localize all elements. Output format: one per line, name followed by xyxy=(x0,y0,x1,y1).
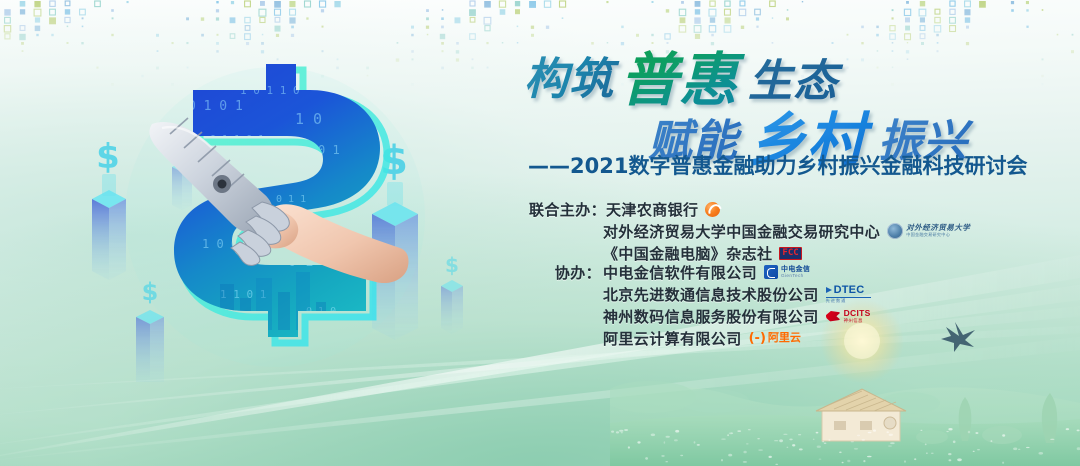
dtec-logo: DTEC 先进数通 xyxy=(826,285,871,304)
svg-text:0 1: 0 1 xyxy=(288,254,313,270)
tjrcb-logo xyxy=(705,202,720,217)
co-organizer-row-4: 阿里云计算有限公司 (-) 阿里云 xyxy=(529,327,999,349)
organizer-name-1: 天津农商银行 xyxy=(606,199,698,220)
headline-line1-part1: 构筑 xyxy=(524,54,620,105)
svg-text:$: $ xyxy=(96,137,120,177)
fcc-logo-text: FCC xyxy=(782,249,798,258)
gientech-logo-sub: GienTech xyxy=(781,274,810,279)
co-organizer-row-1: 协办： 中电金信软件有限公司 中电金信 GienTech xyxy=(529,261,999,283)
subtitle-text: ——2021数字普惠金融助力乡村振兴金融科技研讨会 xyxy=(528,154,1027,178)
aliyun-logo: (-) 阿里云 xyxy=(749,332,801,345)
svg-text:1 0: 1 0 xyxy=(295,110,322,128)
svg-text:$: $ xyxy=(142,278,159,306)
aliyun-logo-text: 阿里云 xyxy=(768,333,801,344)
organizer-row-1: 联合主办： 天津农商银行 xyxy=(529,198,999,220)
dcits-logo-text: DCITS xyxy=(844,309,871,318)
event-banner: $ $ $ xyxy=(0,0,1080,466)
co-organizer-name-1: 中电金信软件有限公司 xyxy=(603,262,757,283)
dtec-logo-text: DTEC xyxy=(834,285,865,296)
fcc-logo: FCC xyxy=(779,247,801,260)
headline-line1-part3: 生态 xyxy=(748,56,844,107)
gientech-logo: 中电金信 GienTech xyxy=(764,265,810,279)
svg-text:0 1 1: 0 1 1 xyxy=(276,194,306,205)
svg-text:$: $ xyxy=(445,253,459,277)
subtitle-line: ——2021数字普惠金融助力乡村振兴金融科技研讨会 xyxy=(528,149,1080,183)
dcits-logo-sub: 神州信息 xyxy=(844,319,871,323)
uibe-logo-text: 对外经济贸易大学 xyxy=(906,224,970,232)
dollar-handshake-artwork: $ $ $ xyxy=(70,52,500,382)
co-organizer-row-3: 神州数码信息服务股份有限公司 DCITS 神州信息 xyxy=(529,305,999,327)
uibe-logo: 对外经济贸易大学 中国金融交易研究中心 xyxy=(887,223,970,239)
svg-text:1 0 0 1: 1 0 0 1 xyxy=(202,237,253,251)
co-organizer-row-2: 北京先进数通信息技术股份公司 DTEC 先进数通 xyxy=(529,283,999,305)
organizer-row-2: 对外经济贸易大学中国金融交易研究中心 对外经济贸易大学 中国金融交易研究中心 xyxy=(529,220,999,242)
dcits-logo: DCITS 神州信息 xyxy=(826,309,871,323)
dcits-swirl-icon xyxy=(826,310,841,322)
dtec-logo-sub: 先进数通 xyxy=(826,299,847,303)
svg-text:0 1 1 0 1: 0 1 1 0 1 xyxy=(210,134,264,145)
gientech-logo-text: 中电金信 xyxy=(781,266,810,273)
co-organizer-name-2: 北京先进数通信息技术股份公司 xyxy=(603,284,819,305)
gientech-mark-icon xyxy=(764,265,778,279)
svg-text:0 1: 0 1 xyxy=(318,143,340,157)
svg-text:$: $ xyxy=(380,138,408,184)
uibe-seal-icon xyxy=(887,223,903,239)
dtec-triangle-icon xyxy=(826,287,832,293)
organizers-label: 联合主办： xyxy=(529,199,606,220)
uibe-logo-sub: 中国金融交易研究中心 xyxy=(906,233,970,237)
aliyun-bracket-icon: (-) xyxy=(749,332,766,345)
organizer-name-2: 对外经济贸易大学中国金融交易研究中心 xyxy=(603,221,880,242)
co-organizers-block: 协办： 中电金信软件有限公司 中电金信 GienTech 北京先进数通信息技术股… xyxy=(529,261,999,349)
svg-text:0 1 0 1: 0 1 0 1 xyxy=(188,99,243,114)
co-organizer-name-4: 阿里云计算有限公司 xyxy=(603,328,742,349)
svg-text:1 0 1 1 0: 1 0 1 1 0 xyxy=(240,84,300,97)
svg-text:1 0 1: 1 0 1 xyxy=(182,170,215,183)
organizers-block: 联合主办： 天津农商银行 对外经济贸易大学中国金融交易研究中心 对外经济贸易大学… xyxy=(529,198,999,264)
headline-line1-part2: 普惠 xyxy=(620,46,745,114)
co-organizers-label: 协办： xyxy=(529,262,603,283)
svg-text:$: $ xyxy=(176,139,188,159)
svg-text:0 1 0: 0 1 0 xyxy=(306,306,336,317)
svg-text:1 1 0 1: 1 1 0 1 xyxy=(220,288,266,301)
co-organizer-name-3: 神州数码信息服务股份有限公司 xyxy=(603,306,819,327)
